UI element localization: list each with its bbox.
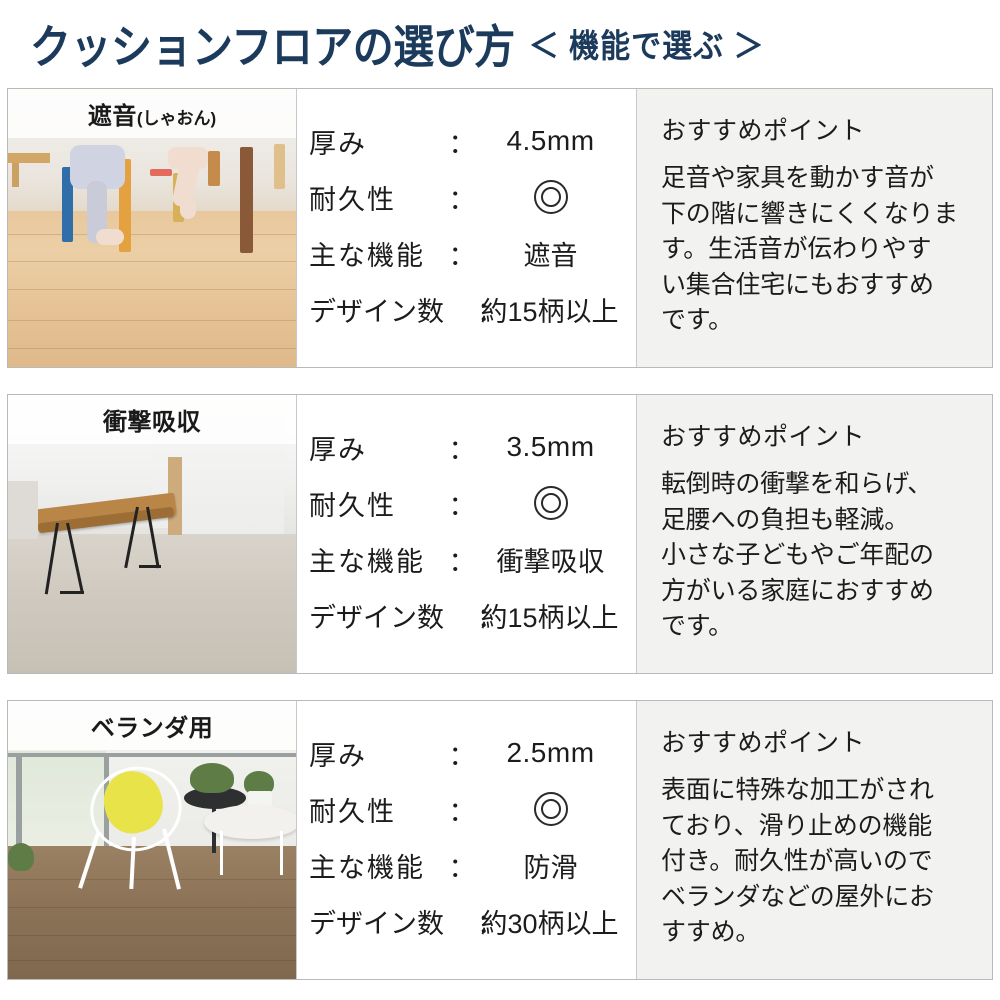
- double-circle-icon: [534, 486, 568, 520]
- card-label-band: 衝撃吸収: [8, 395, 296, 444]
- card-label-text: 遮音: [88, 103, 137, 130]
- spec-label-main-function: 主な機能: [309, 846, 445, 885]
- spec-label-design-count: デザイン数: [309, 902, 477, 941]
- card-label-furigana: (しゃおん): [137, 109, 216, 128]
- recommendation-panel: おすすめポイント 表面に特殊な加工がされ ており、滑り止めの機能 付き。耐久性が…: [637, 701, 992, 979]
- recommendation-panel: おすすめポイント 転倒時の衝撃を和らげ、 足腰への負担も軽減。 小さな子どもやご…: [637, 395, 992, 673]
- spec-colon: ：: [445, 234, 479, 273]
- spec-colon: ：: [445, 540, 479, 579]
- spec-label-design-count: デザイン数: [309, 596, 477, 635]
- card-photo: 衝撃吸収: [8, 395, 296, 673]
- spec-value-durability: [479, 792, 636, 826]
- spec-label-main-function: 主な機能: [309, 234, 445, 273]
- page-title: クッションフロアの選び方: [30, 9, 515, 76]
- spec-label-thickness: 厚み: [309, 734, 445, 773]
- spec-row-thickness: 厚み ： 3.5mm: [297, 419, 636, 475]
- recommendation-heading: おすすめポイント: [661, 111, 970, 147]
- spec-value-durability: [479, 180, 636, 214]
- spec-row-design-count: デザイン数 ： 約30柄以上: [297, 893, 636, 949]
- infographic-page: クッションフロアの選び方 ＜ 機能で選ぶ ＞: [0, 0, 1000, 1000]
- spec-row-thickness: 厚み ： 2.5mm: [297, 725, 636, 781]
- spec-label-design-count: デザイン数: [309, 290, 477, 329]
- spec-row-main-function: 主な機能 ： 防滑: [297, 837, 636, 893]
- spec-value-design-count: 約15柄以上: [477, 596, 636, 635]
- recommendation-text: 表面に特殊な加工がされ ており、滑り止めの機能 付き。耐久性が高いので ベランダ…: [661, 773, 970, 951]
- spec-value-main-function: 遮音: [479, 234, 636, 273]
- card-label-text: 衝撃吸収: [103, 409, 201, 436]
- spec-row-durability: 耐久性 ：: [297, 475, 636, 531]
- spec-colon: ：: [445, 122, 479, 161]
- spec-colon: ：: [445, 790, 479, 829]
- card-label: 衝撃吸収: [103, 402, 201, 437]
- card-photo: ベランダ用: [8, 701, 296, 979]
- spec-value-design-count: 約15柄以上: [477, 290, 636, 329]
- page-subtitle: ＜ 機能で選ぶ ＞: [529, 19, 765, 67]
- spec-colon: ：: [445, 484, 479, 523]
- recommendation-panel: おすすめポイント 足音や家具を動かす音が 下の階に響きにくくなりま す。生活音が…: [637, 89, 992, 367]
- spec-value-design-count: 約30柄以上: [477, 902, 636, 941]
- recommendation-text: 転倒時の衝撃を和らげ、 足腰への負担も軽減。 小さな子どもやご年配の 方がいる家…: [661, 467, 970, 645]
- spec-row-design-count: デザイン数 ： 約15柄以上: [297, 587, 636, 643]
- page-header: クッションフロアの選び方 ＜ 機能で選ぶ ＞: [0, 0, 1000, 86]
- recommendation-text: 足音や家具を動かす音が 下の階に響きにくくなりま す。生活音が伝わりやす い集合…: [661, 161, 970, 339]
- spec-table: 厚み ： 2.5mm 耐久性 ： 主な機能 ： 防滑 デザイン数 ： 約30柄以…: [296, 701, 637, 979]
- spec-colon: ：: [445, 178, 479, 217]
- card-label-text: ベランダ用: [91, 715, 214, 742]
- spec-colon: ：: [445, 428, 479, 467]
- spec-row-design-count: デザイン数 ： 約15柄以上: [297, 281, 636, 337]
- spec-value-thickness: 3.5mm: [479, 431, 636, 463]
- card-label: 遮音(しゃおん): [88, 96, 216, 131]
- spec-value-durability: [479, 486, 636, 520]
- recommendation-heading: おすすめポイント: [661, 417, 970, 453]
- spec-row-thickness: 厚み ： 4.5mm: [297, 113, 636, 169]
- spec-label-main-function: 主な機能: [309, 540, 445, 579]
- spec-value-thickness: 4.5mm: [479, 125, 636, 157]
- spec-label-durability: 耐久性: [309, 790, 445, 829]
- spec-row-durability: 耐久性 ：: [297, 781, 636, 837]
- spec-table: 厚み ： 4.5mm 耐久性 ： 主な機能 ： 遮音 デザイン数 ： 約15柄以…: [296, 89, 637, 367]
- card-label: ベランダ用: [91, 708, 214, 743]
- spec-row-main-function: 主な機能 ： 衝撃吸収: [297, 531, 636, 587]
- product-card: ベランダ用 厚み ： 2.5mm 耐久性 ： 主な機能 ： 防滑 デザイン数: [7, 700, 993, 980]
- spec-row-durability: 耐久性 ：: [297, 169, 636, 225]
- card-photo: 遮音(しゃおん): [8, 89, 296, 367]
- spec-value-thickness: 2.5mm: [479, 737, 636, 769]
- spec-colon: ：: [445, 734, 479, 773]
- spec-label-thickness: 厚み: [309, 122, 445, 161]
- spec-label-durability: 耐久性: [309, 178, 445, 217]
- spec-colon: ：: [445, 846, 479, 885]
- double-circle-icon: [534, 180, 568, 214]
- spec-value-main-function: 防滑: [479, 846, 636, 885]
- card-label-band: 遮音(しゃおん): [8, 89, 296, 138]
- double-circle-icon: [534, 792, 568, 826]
- spec-value-main-function: 衝撃吸収: [479, 540, 636, 579]
- spec-label-durability: 耐久性: [309, 484, 445, 523]
- spec-row-main-function: 主な機能 ： 遮音: [297, 225, 636, 281]
- spec-table: 厚み ： 3.5mm 耐久性 ： 主な機能 ： 衝撃吸収 デザイン数 ： 約15…: [296, 395, 637, 673]
- product-card: 衝撃吸収 厚み ： 3.5mm 耐久性 ： 主な機能 ： 衝撃吸収 デザイン数: [7, 394, 993, 674]
- product-card: 遮音(しゃおん) 厚み ： 4.5mm 耐久性 ： 主な機能 ： 遮音 デザイン…: [7, 88, 993, 368]
- recommendation-heading: おすすめポイント: [661, 723, 970, 759]
- spec-label-thickness: 厚み: [309, 428, 445, 467]
- card-label-band: ベランダ用: [8, 701, 296, 750]
